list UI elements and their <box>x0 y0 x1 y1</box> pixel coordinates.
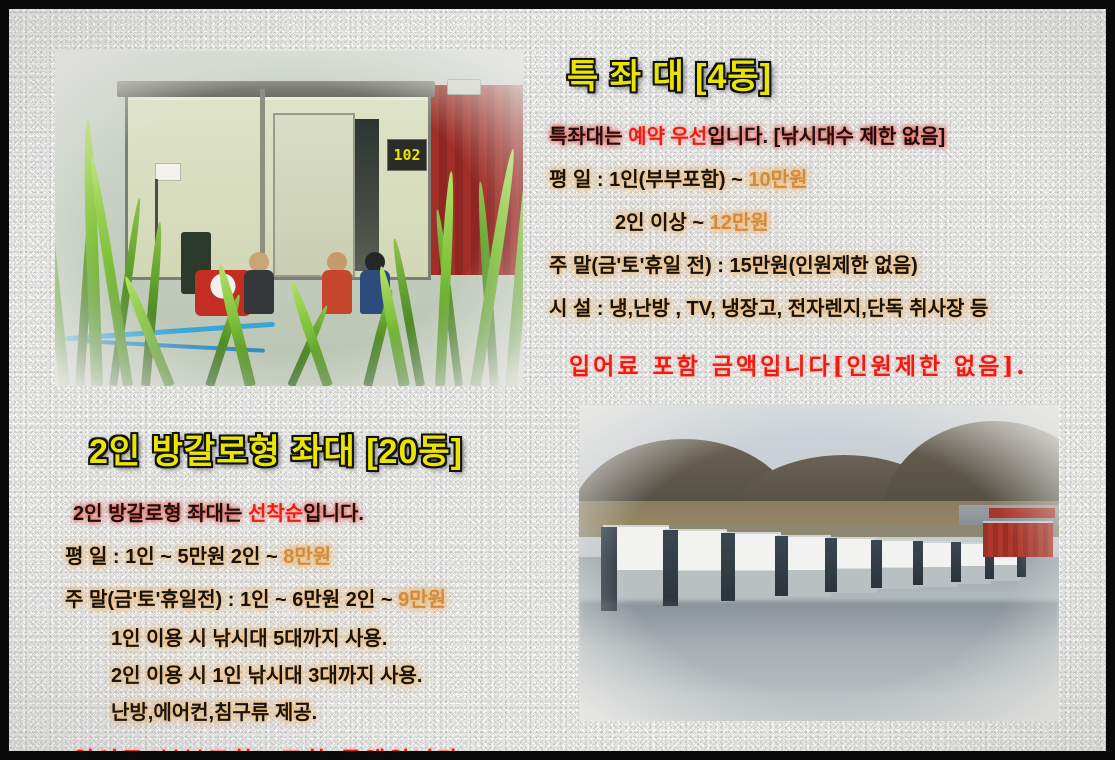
price-label: 2인 이상 ~ <box>615 212 710 234</box>
bungalow-section-headline: 2인 방갈로형 좌대는 선착순입니다. <box>65 497 585 526</box>
special-price-weekday-2: 2인 이상 ~ 12만원 <box>549 206 1105 235</box>
bungalow-price-weekend: 주 말(금'토'휴일전) : 1인 ~ 6만원 2인 ~ 9만원 <box>65 583 585 612</box>
rule-label: 2인 이용 시 1인 낚시대 3대까지 사용. <box>111 665 422 687</box>
facilities-label: 시 설 : 냉,난방 , TV, 냉장고, 전자렌지,단독 취사장 등 <box>549 298 988 320</box>
cabin-unit-number: 102 <box>387 139 427 171</box>
bungalow-amenities: 난방,에어컨,침구류 제공. <box>65 696 585 725</box>
amenities-label: 난방,에어컨,침구류 제공. <box>111 702 317 724</box>
price-amount: 8만원 <box>283 546 331 568</box>
price-label: 주 말(금'토'휴일전) : 1인 ~ 6만원 2인 ~ <box>65 589 398 611</box>
special-section-title: 특 좌 대 [4동] <box>567 49 1105 98</box>
photo-container-cabin: 102 <box>55 51 523 386</box>
bungalow-rule-2-person: 2인 이용 시 1인 낚시대 3대까지 사용. <box>65 659 585 688</box>
special-headline-prefix: 특좌대는 <box>549 126 628 148</box>
bungalow-footnote: 입어료(부부포함) 포함 금액입니다. <box>73 741 585 760</box>
special-headline-highlight: 예약 우선 <box>628 126 707 148</box>
photo-lake-bungalows <box>579 405 1059 721</box>
price-label: 평 일 : 1인 ~ 5만원 2인 ~ <box>65 546 283 568</box>
special-price-weekend: 주 말(금'토'휴일 전) : 15만원(인원제한 없음) <box>549 249 1105 278</box>
bungalow-rule-1-person: 1인 이용 시 낚시대 5대까지 사용. <box>65 622 585 651</box>
bungalow-headline-highlight: 선착순 <box>248 503 303 525</box>
special-price-weekday-1: 평 일 : 1인(부부포함) ~ 10만원 <box>549 163 1105 192</box>
price-label: 주 말(금'토'휴일 전) : 15만원(인원제한 없음) <box>549 255 918 277</box>
special-section-headline: 특좌대는 예약 우선입니다. [낚시대수 제한 없음] <box>549 120 1105 149</box>
bungalow-seats-section: 2인 방갈로형 좌대 [20동] 2인 방갈로형 좌대는 선착순입니다. 평 일… <box>65 424 585 760</box>
special-headline-suffix: 입니다. [낚시대수 제한 없음] <box>707 126 945 148</box>
price-label: 평 일 : 1인(부부포함) ~ <box>549 169 748 191</box>
bungalow-headline-prefix: 2인 방갈로형 좌대는 <box>73 503 248 525</box>
special-footnote: 입어료 포함 금액입니다[인원제한 없음]. <box>569 347 1105 381</box>
poster-root: 102 <box>0 0 1115 760</box>
special-seats-section: 특 좌 대 [4동] 특좌대는 예약 우선입니다. [낚시대수 제한 없음] 평… <box>549 49 1105 381</box>
special-facilities: 시 설 : 냉,난방 , TV, 냉장고, 전자렌지,단독 취사장 등 <box>549 292 1105 321</box>
rule-label: 1인 이용 시 낚시대 5대까지 사용. <box>111 628 387 650</box>
price-amount: 10만원 <box>748 169 807 191</box>
price-amount: 9만원 <box>398 589 446 611</box>
bungalow-price-weekday: 평 일 : 1인 ~ 5만원 2인 ~ 8만원 <box>65 540 585 569</box>
bungalow-headline-suffix: 입니다. <box>303 503 364 525</box>
price-amount: 12만원 <box>710 212 769 234</box>
bungalow-section-title: 2인 방갈로형 좌대 [20동] <box>89 424 585 473</box>
